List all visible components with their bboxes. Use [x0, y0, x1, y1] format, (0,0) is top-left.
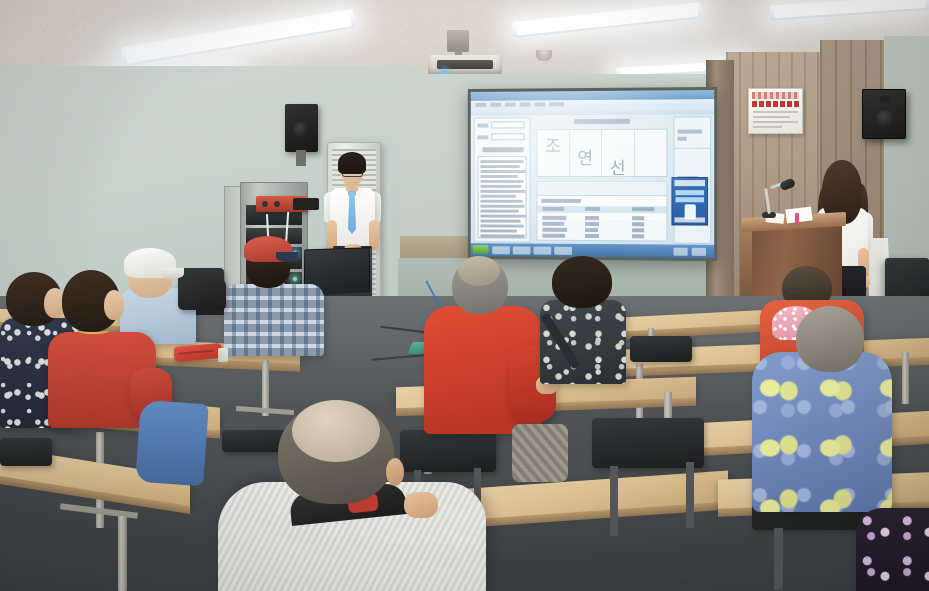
chair-back	[0, 438, 52, 466]
attendee-red-polo-scalp	[458, 256, 500, 286]
black-audio-unit	[293, 198, 319, 210]
app-taskbar	[471, 243, 714, 258]
wall-speaker-right	[862, 89, 906, 139]
projection-screen: 조 연 선	[471, 90, 714, 258]
chair-leg	[686, 462, 694, 528]
attendee-gray-polo-ear	[386, 458, 404, 486]
attendee-blue-yellow-floral-body	[752, 352, 892, 512]
wall-poster	[748, 88, 803, 134]
attendee-red-polo-trousers	[512, 424, 568, 482]
projection-screen-frame: 조 연 선	[468, 87, 717, 261]
name-char-2: 연	[570, 144, 601, 169]
attendee-plaid-shirt-body	[224, 284, 324, 356]
attendee-dark-floral-body	[540, 300, 626, 384]
name-cell-4	[635, 130, 667, 176]
chair-back	[592, 418, 704, 468]
projector-lens	[437, 60, 493, 69]
instructor-hair	[338, 152, 366, 174]
attendee-red-cardigan-jeans	[135, 400, 209, 487]
name-cell-1: 조	[537, 130, 569, 176]
black-handbag	[178, 280, 226, 310]
app-course-list	[478, 156, 527, 238]
chair-leg	[774, 528, 783, 590]
attendee-dark-floral-head	[552, 256, 612, 308]
attendee-gray-polo-scalp	[292, 400, 380, 462]
pen-on-podium[interactable]	[795, 213, 799, 225]
table-leg	[902, 352, 909, 404]
start-button[interactable]	[473, 245, 489, 254]
app-progress-table	[536, 195, 667, 242]
app-main-header	[538, 119, 665, 126]
name-cell-3: 선	[602, 130, 635, 176]
wall-speaker-left	[285, 104, 318, 152]
name-char-3: 선	[602, 154, 634, 179]
classroom-photo: 조 연 선	[0, 0, 929, 591]
attendee-glasses-right-glasses	[786, 288, 806, 295]
water-bottle[interactable]	[218, 348, 228, 362]
speaker-bracket	[296, 150, 306, 166]
attendee-white-cap-brim	[160, 268, 184, 279]
name-writing-grid: 조 연 선	[536, 129, 667, 177]
chair-leg	[610, 466, 618, 536]
table-leg	[118, 516, 127, 591]
chair-back	[400, 430, 496, 472]
name-char-1: 조	[537, 132, 568, 157]
attendee-red-cardigan-face	[104, 290, 124, 320]
sprinkler-head	[536, 50, 552, 61]
projector-mount	[447, 30, 469, 52]
chair-back	[630, 336, 692, 362]
attendee-gray-polo-hand	[404, 492, 438, 518]
app-toolbar	[471, 106, 714, 116]
wall-right	[884, 36, 929, 292]
app-main-panel: 조 연 선	[532, 117, 671, 244]
attendee-logo-print-body	[856, 508, 929, 591]
attendee-red-navy-cap-brim	[276, 252, 298, 262]
attendee-red-cardigan-necklace	[76, 326, 110, 334]
app-right-panel	[673, 116, 711, 244]
app-left-panel	[474, 117, 531, 242]
ad-banner[interactable]	[671, 177, 708, 226]
attendee-blue-yellow-floral-head	[796, 306, 864, 372]
name-cell-2: 연	[570, 130, 602, 176]
instructor-necktie	[348, 192, 356, 234]
